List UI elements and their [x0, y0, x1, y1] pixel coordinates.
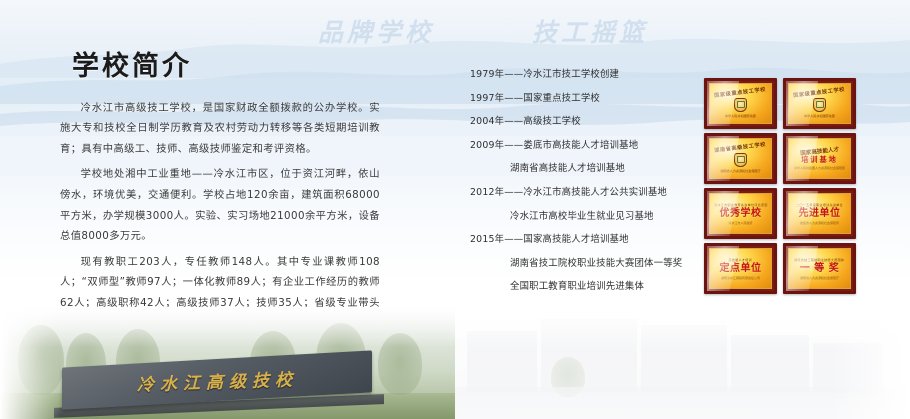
page-title: 学校简介	[72, 52, 380, 82]
plaque-title: 定点单位	[720, 263, 762, 274]
national-emblem-icon	[734, 153, 747, 167]
intro-paragraph: 学校地处湘中工业重地——冷水江市区，位于资江河畔，依山傍水，环境优美，交通便利。…	[60, 164, 380, 246]
plaque-issuer: 中华人民共和国人力资源和社会保障部	[794, 166, 845, 170]
photo-top-fade	[0, 307, 455, 347]
national-emblem-icon	[734, 98, 747, 112]
watermark-text-left: 品牌学校	[318, 13, 434, 49]
plaque-heading: 湖南省技工院校职业技能大赛团体	[794, 257, 844, 262]
milestone-timeline: 1979年——冷水江市技工学校创建 1997年——国家重点技工学校 2004年—…	[470, 70, 700, 306]
campus-buildings-photo	[455, 307, 910, 419]
timeline-entry: 湖南省技工院校职业技能大赛团体一等奖	[470, 259, 700, 268]
monument-inscription: 冷水江高级技校	[137, 365, 298, 396]
banner-watermark: 品牌学校 技工摇篮	[318, 9, 648, 53]
award-plaque: 国家高技能人才 培训基地 中华人民共和国人力资源和社会保障部	[783, 133, 856, 184]
award-plaque: 湖南省高级技工学校 湖南省人力资源和社会保障厅	[704, 133, 777, 184]
watermark-text-right: 技工摇篮	[532, 13, 648, 49]
plaque-issuer: 中华人民共和国劳动部	[804, 113, 835, 118]
plaque-title: 培训基地	[801, 156, 838, 164]
award-plaque-grid: 国家级重点技工学校 中华人民共和国劳动部 国家级重点技工学校 中华人民共和国劳动…	[704, 78, 856, 294]
timeline-entry: 2012年——冷水江市高技能人才公共实训基地	[470, 188, 700, 197]
plaque-issuer: 冷水江市人民政府	[728, 221, 752, 225]
award-plaque: 湖南省技工院校职业技能大赛团体 一 等 奖 湖南省人力资源和社会保障厅	[783, 243, 856, 294]
timeline-entry: 冷水江市高校毕业生就业见习基地	[470, 212, 700, 221]
intro-column: 学校简介 冷水江市高级技工学校，是国家财政全额拨款的公办学校。实施大专和技校全日…	[60, 52, 380, 339]
plaque-issuer: 湖南省人力资源和社会保障厅	[800, 276, 839, 280]
award-plaque: 国家级重点技工学校 中华人民共和国劳动部	[704, 78, 777, 129]
photo-left-fade	[0, 307, 60, 419]
intro-paragraph: 冷水江市高级技工学校，是国家财政全额拨款的公办学校。实施大专和技校全日制学历教育…	[60, 98, 380, 160]
timeline-entry: 2009年——娄底市高技能人才培训基地	[470, 141, 700, 150]
plaque-title: 优秀学校	[720, 208, 762, 219]
timeline-entry: 2004年——高级技工学校	[470, 117, 700, 126]
timeline-entry: 湖南省高技能人才培训基地	[470, 164, 700, 173]
award-plaque: 国家级重点技工学校 中华人民共和国劳动部	[783, 78, 856, 129]
plaque-title: 先进单位	[799, 208, 841, 219]
timeline-entry: 2015年——国家高技能人才培训基地	[470, 235, 700, 244]
timeline-entry: 1979年——冷水江市技工学校创建	[470, 70, 700, 79]
award-plaque: 冷水江市职业教育先进单位评比表彰 优秀学校 冷水江市人民政府	[704, 188, 777, 239]
plaque-issuer: 湖南省人力资源和社会保障厅	[720, 168, 760, 173]
award-plaque: 高技能人才培训 定点单位 湖南冷水江钢铁有限责任公司	[704, 243, 777, 294]
plaque-heading: 冷水江市职业教育先进单位评比表彰	[714, 202, 768, 207]
plaque-title: 一 等 奖	[800, 263, 839, 274]
plaque-issuer: 湖南冷水江钢铁有限责任公司	[721, 276, 760, 280]
plaque-issuer: 娄底市人力资源和社会保障局	[800, 221, 839, 225]
campus-monument-photo: 冷水江高级技校	[0, 307, 455, 419]
brochure-page: 品牌学校 技工摇篮 学校简介 冷水江市高级技工学校，是国家财政全额拨款的公办学校…	[0, 0, 910, 419]
timeline-entry: 1997年——国家重点技工学校	[470, 94, 700, 103]
timeline-entry: 全国职工教育职业培训先进集体	[470, 282, 700, 291]
plaque-issuer: 中华人民共和国劳动部	[725, 113, 756, 118]
plaque-heading: 二〇一五年度职业培训先进单位	[796, 202, 843, 207]
photo-right-fade	[830, 307, 910, 419]
award-plaque: 二〇一五年度职业培训先进单位 先进单位 娄底市人力资源和社会保障局	[783, 188, 856, 239]
national-emblem-icon	[813, 98, 826, 112]
photo-band: 冷水江高级技校	[0, 307, 910, 419]
plaque-heading: 高技能人才培训	[729, 257, 752, 262]
